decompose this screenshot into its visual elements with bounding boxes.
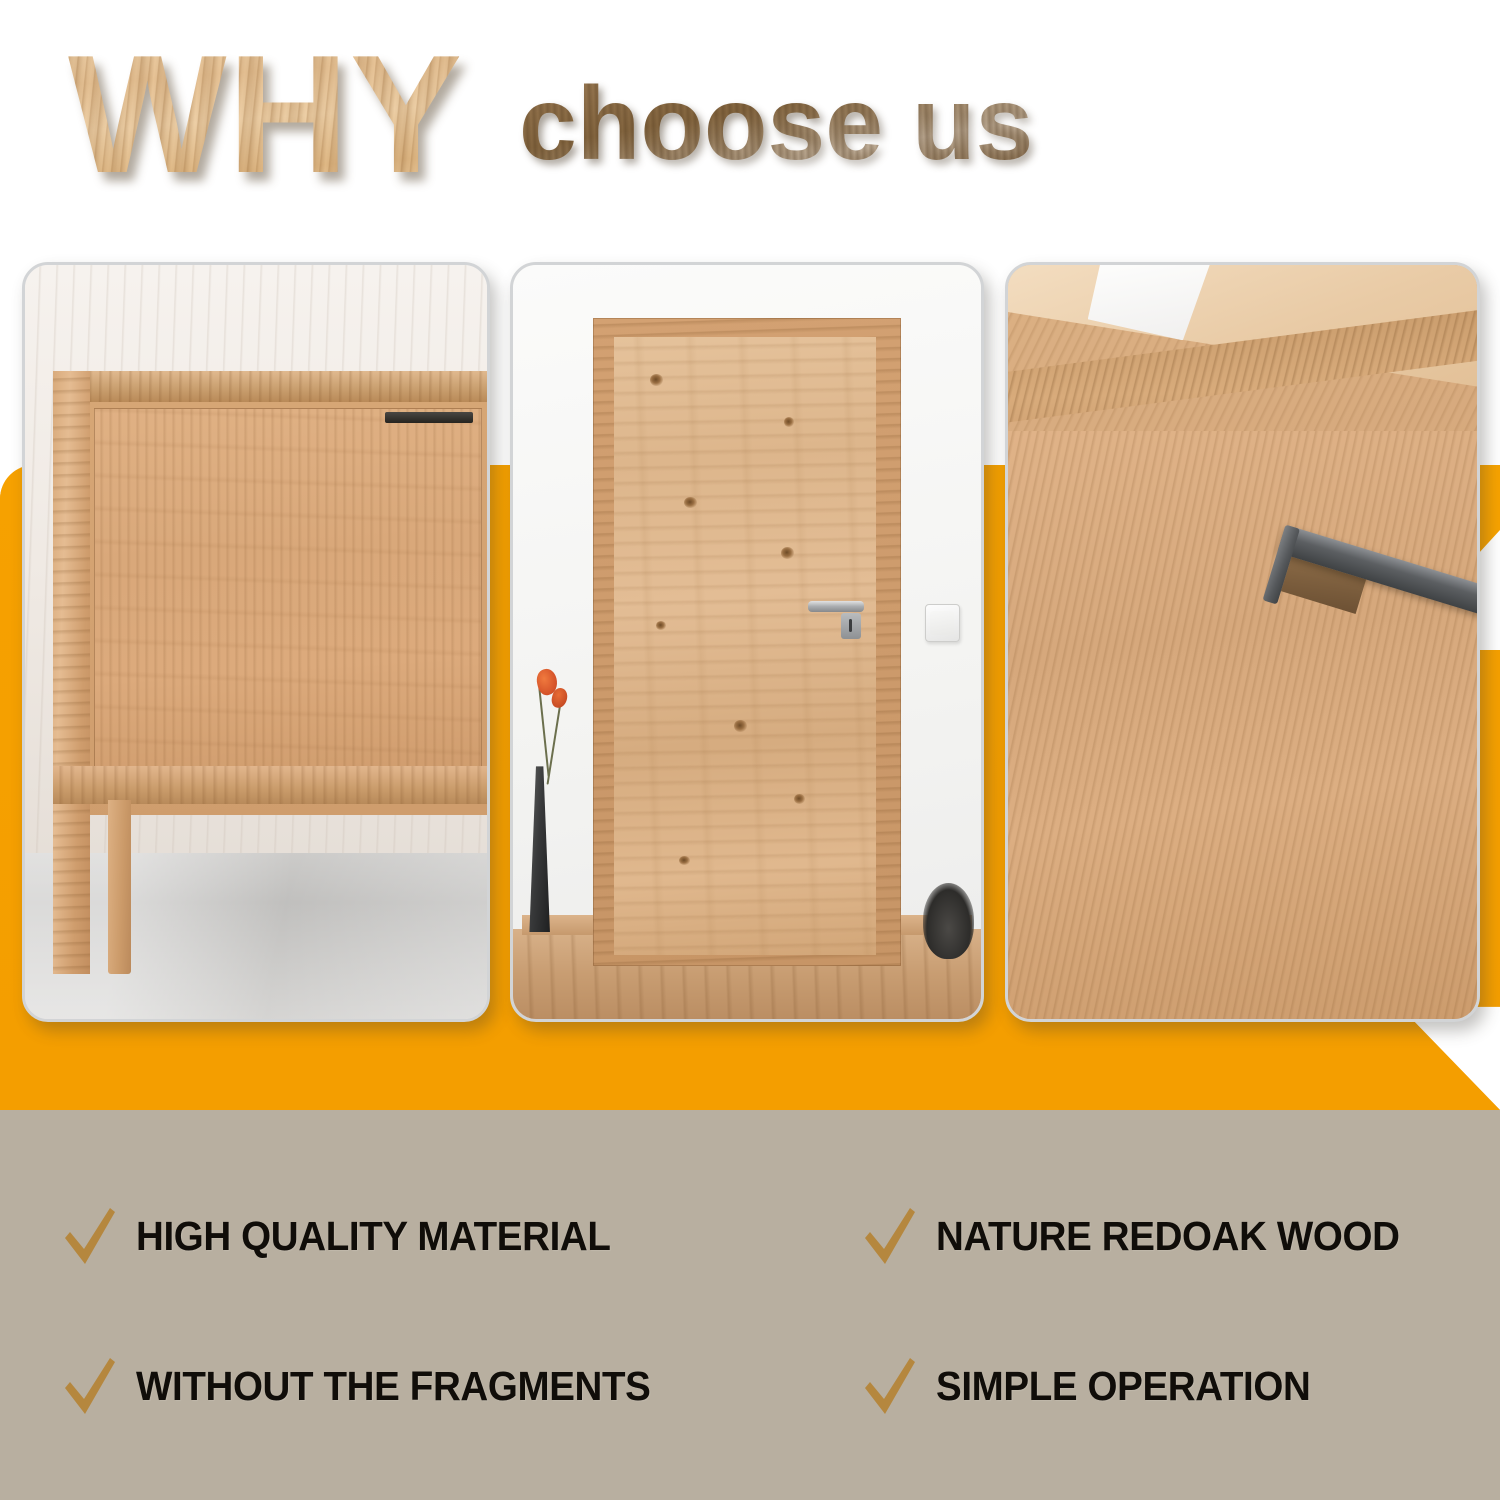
image-card-sideboard[interactable] bbox=[22, 262, 490, 1022]
cabinet-flap-door bbox=[94, 408, 482, 770]
wood-knot-icon bbox=[781, 547, 794, 559]
feature-label: HIGH QUALITY MATERIAL bbox=[136, 1213, 611, 1260]
cabinet-bottom-rail bbox=[53, 766, 487, 804]
page-title-rest: choose us bbox=[519, 72, 1033, 176]
image-card-drawer-closeup[interactable] bbox=[1005, 262, 1480, 1022]
door-lock-escutcheon bbox=[841, 613, 862, 639]
check-icon bbox=[62, 1205, 118, 1267]
check-icon bbox=[862, 1355, 918, 1417]
page-title-highlight: WHY bbox=[68, 30, 463, 198]
feature-label: SIMPLE OPERATION bbox=[936, 1363, 1310, 1410]
feature-item-high-quality-material: HIGH QUALITY MATERIAL bbox=[62, 1205, 641, 1267]
why-choose-us-infographic: WHY choose us bbox=[0, 0, 1500, 1500]
photo-wooden-sideboard-cabinet bbox=[25, 265, 487, 1019]
page-header: WHY choose us bbox=[0, 0, 1500, 240]
photo-drawer-front-closeup bbox=[1008, 265, 1477, 1019]
cabinet-leg bbox=[108, 800, 131, 973]
light-switch bbox=[925, 604, 960, 642]
wood-knot-icon bbox=[784, 417, 794, 427]
cabinet-handle bbox=[385, 412, 473, 423]
feature-item-nature-redoak-wood: NATURE REDOAK WOOD bbox=[862, 1205, 1429, 1267]
feature-label: NATURE REDOAK WOOD bbox=[936, 1213, 1400, 1260]
wood-knot-icon bbox=[734, 720, 747, 732]
check-icon bbox=[62, 1355, 118, 1417]
drawer-front-panel bbox=[1008, 431, 1477, 1019]
feature-label: WITHOUT THE FRAGMENTS bbox=[136, 1363, 650, 1410]
door-slab bbox=[614, 337, 876, 955]
cabinet-top-panel bbox=[53, 371, 487, 403]
image-card-door[interactable] bbox=[510, 262, 984, 1022]
wood-knot-icon bbox=[684, 497, 697, 508]
check-icon bbox=[862, 1205, 918, 1267]
wood-knot-icon bbox=[656, 621, 666, 630]
cabinet-left-post bbox=[53, 371, 90, 974]
features-panel bbox=[0, 1110, 1500, 1500]
wood-knot-icon bbox=[650, 374, 663, 386]
feature-item-simple-operation: SIMPLE OPERATION bbox=[862, 1355, 1334, 1417]
image-card-row bbox=[0, 262, 1500, 1022]
wood-knot-icon bbox=[679, 856, 689, 865]
door-handle bbox=[808, 601, 864, 612]
floor-object bbox=[923, 883, 974, 958]
feature-item-without-the-fragments: WITHOUT THE FRAGMENTS bbox=[62, 1355, 683, 1417]
photo-wooden-interior-door bbox=[513, 265, 981, 1019]
floor-surface bbox=[25, 853, 487, 1019]
wood-knot-icon bbox=[794, 794, 804, 804]
